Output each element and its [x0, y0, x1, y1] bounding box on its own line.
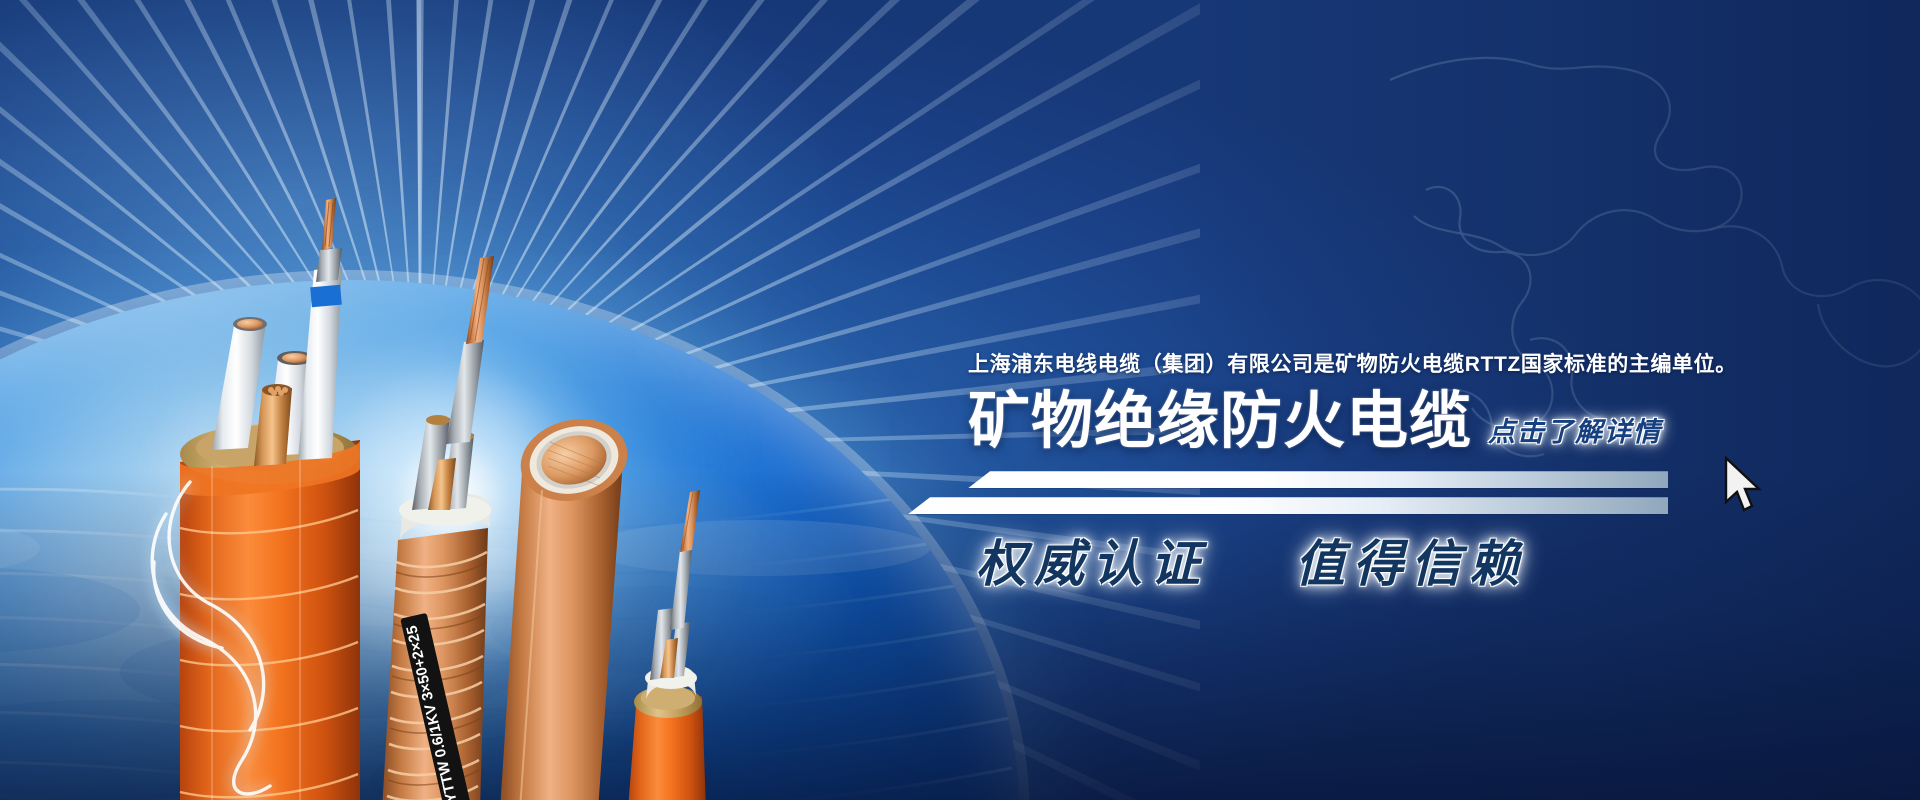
banner-stage: YTTW 0.6/1KV 3×50+2×25	[0, 0, 1920, 800]
slogan-left: 权威认证	[976, 536, 1208, 592]
cable-orange-large	[180, 424, 360, 800]
cable-product-image: YTTW 0.6/1KV 3×50+2×25	[150, 210, 790, 800]
banner-text-block: 上海浦东电线电缆（集团）有限公司是矿物防火电缆RTTZ国家标准的主编单位。 矿物…	[968, 352, 1868, 592]
cable-corrugated-copper: YTTW 0.6/1KV 3×50+2×25	[382, 256, 494, 800]
cable-copper-solid	[500, 408, 636, 800]
cable-orange-small	[628, 490, 706, 800]
banner-slogan: 权威认证 值得信赖	[976, 537, 1868, 592]
learn-more-cta-button[interactable]: 点击了解详情	[1488, 419, 1662, 453]
decorative-bars	[968, 471, 1828, 527]
cable-white-cores	[212, 198, 342, 466]
banner-tagline: 上海浦东电线电缆（集团）有限公司是矿物防火电缆RTTZ国家标准的主编单位。	[968, 352, 1868, 377]
divider-bar-top	[968, 471, 1668, 488]
slogan-right: 值得信赖	[1295, 536, 1527, 592]
banner-headline-row: 矿物绝缘防火电缆 点击了解详情	[968, 391, 1868, 453]
page-title: 矿物绝缘防火电缆	[968, 391, 1472, 453]
divider-bar-bottom	[908, 497, 1668, 514]
